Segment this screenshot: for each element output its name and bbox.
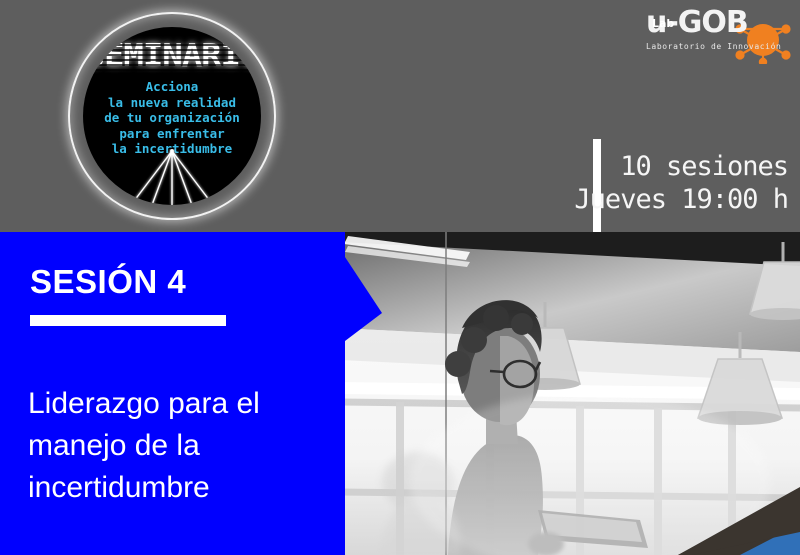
session-label-underline <box>30 315 226 326</box>
promo-banner: SEMINARIO Acciona la nueva realidad de t… <box>0 0 800 555</box>
seminar-subtitle-line-3: de tu organización <box>83 110 261 126</box>
session-title: Liderazgo para el manejo de la incertidu… <box>28 383 338 509</box>
session-photo <box>340 232 800 555</box>
seminar-logo: SEMINARIO Acciona la nueva realidad de t… <box>64 8 280 232</box>
schedule-day-time: Jueves 19:00 h <box>558 183 788 216</box>
schedule-sessions-count: 10 sesiones <box>558 150 788 183</box>
office-photo-illustration <box>340 232 800 555</box>
seminar-subtitle: Acciona la nueva realidad de tu organiza… <box>83 79 261 157</box>
rays-icon <box>83 149 261 205</box>
seminar-wordmark: SEMINARIO <box>83 41 261 72</box>
seminar-subtitle-line-4: para enfrentar <box>83 126 261 142</box>
seminar-subtitle-line-1: Acciona <box>83 79 261 95</box>
seminar-subtitle-line-2: la nueva realidad <box>83 95 261 111</box>
schedule-info: 10 sesiones Jueves 19:00 h <box>558 150 788 216</box>
lab-badge-label: Lab <box>652 18 674 30</box>
ugob-tagline: Laboratorio de Innovación <box>646 42 781 52</box>
ugob-logo[interactable]: u-GOB Laboratorio de Innovación Lab <box>638 6 794 64</box>
logo-disc: SEMINARIO Acciona la nueva realidad de t… <box>83 27 261 205</box>
session-label: SESIÓN 4 <box>30 264 186 300</box>
